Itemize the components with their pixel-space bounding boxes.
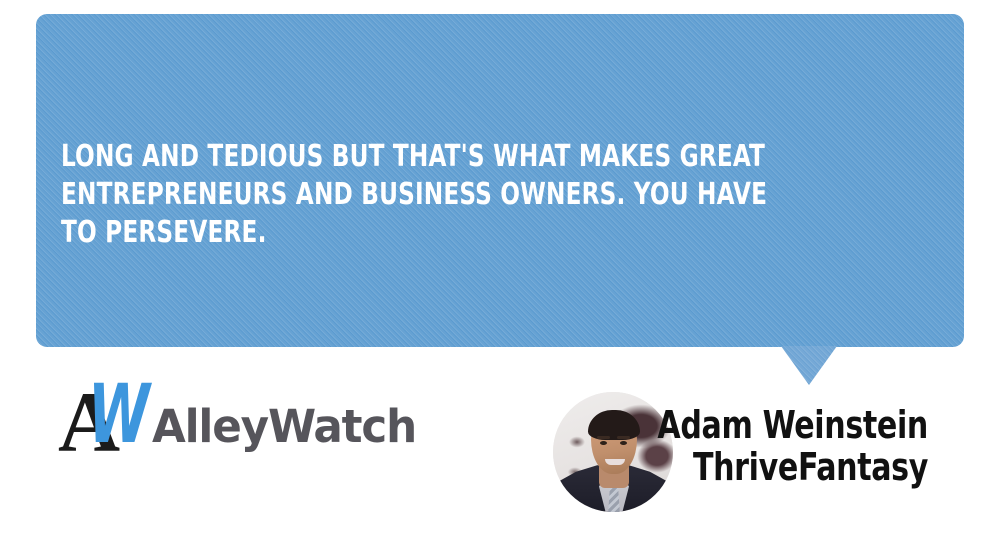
quote-card-tail-icon <box>781 346 837 385</box>
alleywatch-mark-icon: A W <box>58 389 148 463</box>
speaker-company: ThriveFantasy <box>639 446 928 488</box>
quote-text: Long and tedious but that's what makes g… <box>61 138 775 252</box>
alleywatch-logo: A W AlleyWatch <box>58 388 424 464</box>
speaker-name: Adam Weinstein <box>639 404 928 446</box>
alleywatch-mark-letter-w: W <box>88 371 145 457</box>
speaker-name-block: Adam Weinstein ThriveFantasy <box>600 404 928 488</box>
alleywatch-wordmark: AlleyWatch <box>152 404 416 449</box>
